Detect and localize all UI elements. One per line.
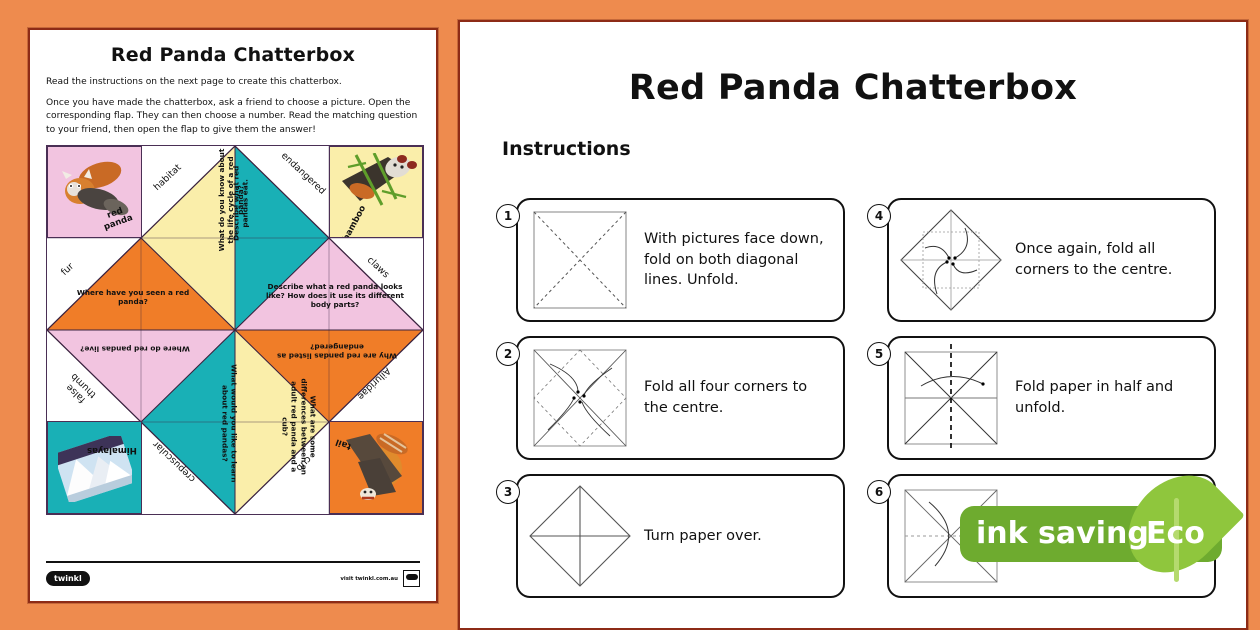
red-panda-bamboo-photo [336, 153, 420, 227]
footer-right: visit twinkl.com.au [340, 570, 420, 587]
step-card: Once again, fold all corners to the cent… [887, 198, 1216, 322]
right-page: Red Panda Chatterbox Instructions 1 With… [458, 20, 1248, 630]
chatterbox-diagram: red panda [46, 145, 424, 515]
instruction-steps: 1 With pictures face down, fold on both … [496, 198, 1216, 598]
chatterbox-question-differences: What are some differences between an adu… [280, 374, 317, 478]
chatterbox-question-endangered: Why are red pandas listed as endangered? [265, 342, 409, 361]
chatterbox-tile-bamboo[interactable]: bamboo [329, 146, 424, 239]
instructions-heading: Instructions [502, 138, 1246, 160]
left-page-title: Red Panda Chatterbox [46, 44, 420, 66]
fold-figure-square-both-diagonals-dashed [524, 204, 636, 316]
step-number-badge: 3 [496, 480, 520, 504]
left-page-content: Red Panda Chatterbox Read the instructio… [30, 30, 436, 515]
footer-url: visit twinkl.com.au [340, 576, 398, 582]
chatterbox-question-eat: Describe what red pandas eat. [232, 161, 251, 245]
fold-figure-square-corners-to-centre-arrows [524, 342, 636, 454]
instruction-step-5: 5 Fold paper in half and unf [867, 336, 1216, 460]
left-page-paragraph-2: Once you have made the chatterbox, ask a… [46, 97, 420, 137]
step-number-badge: 4 [867, 204, 891, 228]
step-card: Turn paper over. [516, 474, 845, 598]
chatterbox-question-learn: What would you like to learn about red p… [220, 363, 239, 483]
step-text: With pictures face down, fold on both di… [644, 229, 833, 291]
right-page-title: Red Panda Chatterbox [460, 68, 1246, 108]
chatterbox-tile-red-panda[interactable]: red panda [47, 146, 142, 239]
chatterbox-question-seen: Where have you seen a red panda? [63, 288, 203, 307]
left-page-paragraph-1: Read the instructions on the next page t… [46, 76, 420, 89]
left-page-footer: twinkl visit twinkl.com.au [46, 561, 420, 587]
instruction-step-3: 3 Turn paper over. [496, 474, 845, 598]
step-number-badge: 5 [867, 342, 891, 366]
fold-figure-diamond-with-cross [524, 480, 636, 592]
step-text: Fold all four corners to the centre. [644, 377, 833, 418]
twinkl-logo: twinkl [46, 571, 90, 586]
step-number-badge: 1 [496, 204, 520, 228]
step-text: Turn paper over. [644, 526, 762, 547]
step-text: Fold paper in half and unfold. [1015, 377, 1204, 418]
step-text: bottom. Do [1015, 526, 1097, 547]
fold-figure-diamond-corners-to-centre-arrows [895, 204, 1007, 316]
instruction-step-2: 2 [496, 336, 845, 460]
chatterbox-tile-label: Himalayas [87, 444, 137, 454]
chatterbox-tile-tail[interactable]: tail [329, 421, 424, 514]
step-card: Fold paper in half and unfold. [887, 336, 1216, 460]
step-card: Fold all four corners to the centre. [516, 336, 845, 460]
left-page: Red Panda Chatterbox Read the instructio… [28, 28, 438, 603]
fold-figure-square-fold-in-half-vertical [895, 342, 1007, 454]
step-card: bottom. Do [887, 474, 1216, 598]
step-text: Once again, fold all corners to the cent… [1015, 239, 1204, 280]
instruction-step-6: 6 bottom. Do [867, 474, 1216, 598]
screenshot-root: Red Panda Chatterbox Read the instructio… [0, 0, 1260, 630]
instruction-step-1: 1 With pictures face down, fold on both … [496, 198, 845, 322]
instruction-step-4: 4 [867, 198, 1216, 322]
chatterbox-question-live: Where do red pandas live? [67, 344, 203, 353]
step-card: With pictures face down, fold on both di… [516, 198, 845, 322]
chatterbox-question-looks-like: Describe what a red panda looks like? Ho… [261, 282, 409, 310]
twinkl-badge-icon [403, 570, 420, 587]
step-number-badge: 6 [867, 480, 891, 504]
step-number-badge: 2 [496, 342, 520, 366]
chatterbox-tile-himalayas[interactable]: Himalayas [47, 421, 142, 514]
fold-figure-square-fold-partial [895, 480, 1007, 592]
